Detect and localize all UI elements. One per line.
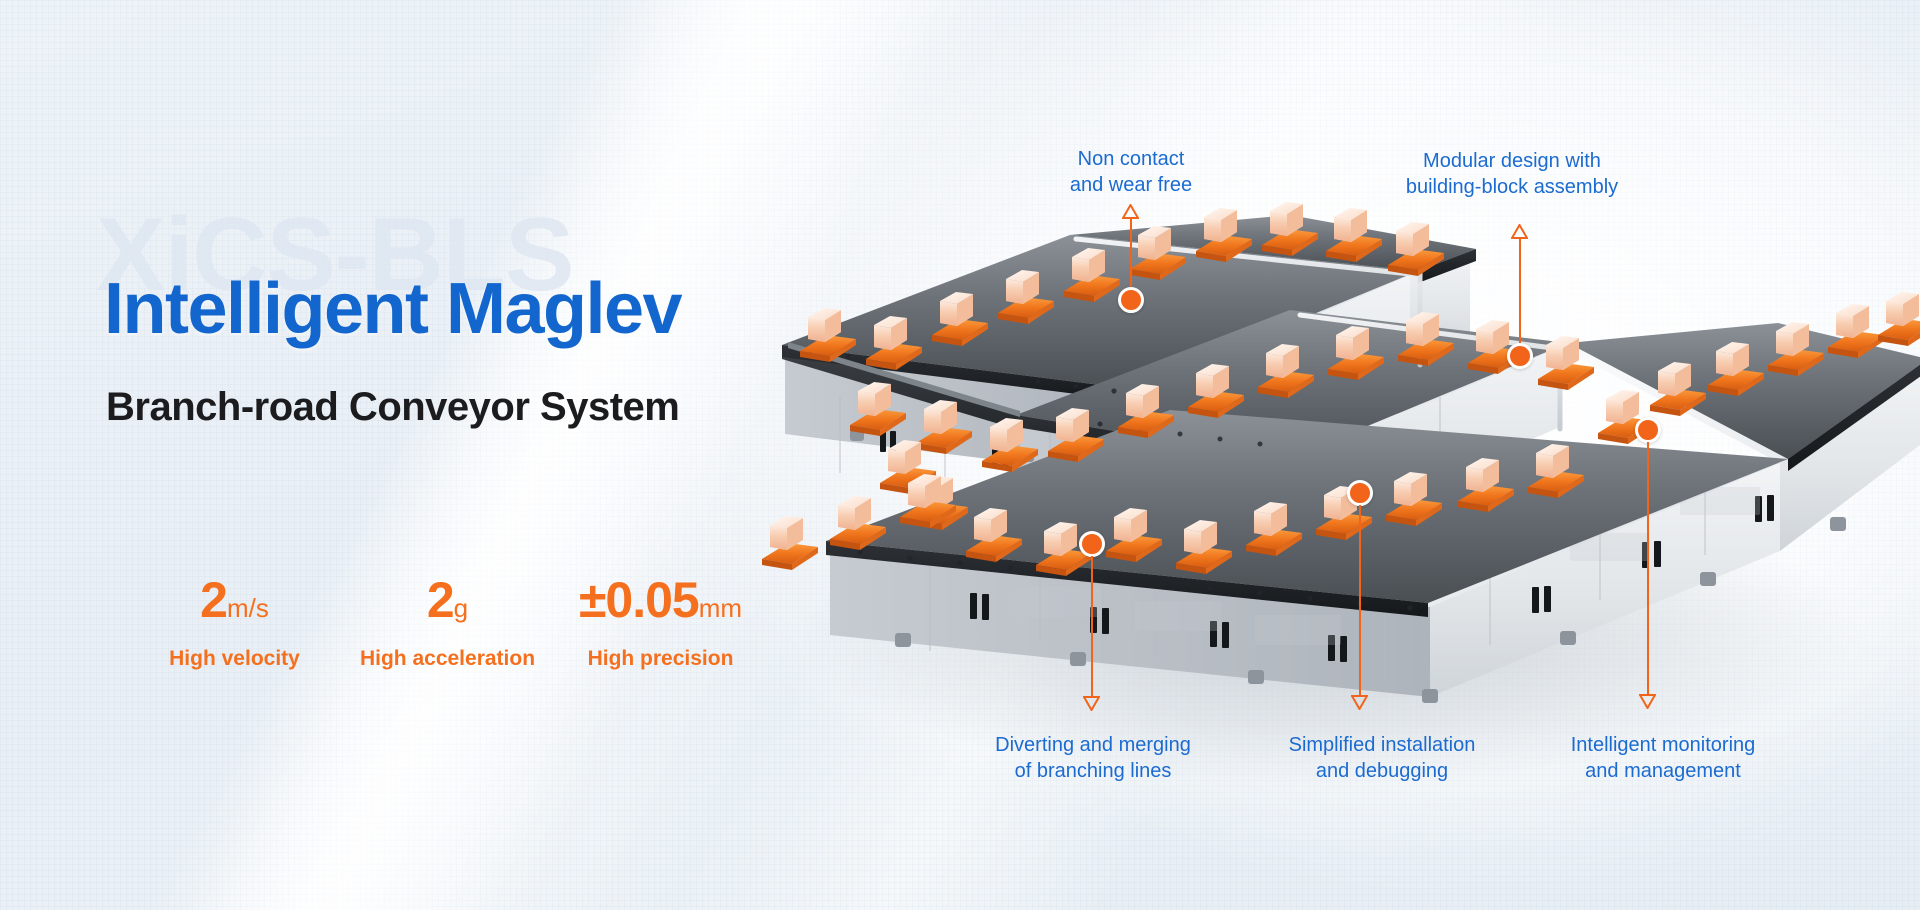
callout-line-2: and debugging — [1289, 758, 1476, 784]
callout-modular-design: Modular design with building-block assem… — [1406, 148, 1618, 201]
callout-line-2: of branching lines — [995, 758, 1191, 784]
stat-label: High precision — [554, 647, 767, 671]
callout-line-2: and wear free — [1070, 172, 1192, 198]
hotspot-dot-simplified-installation[interactable] — [1347, 480, 1373, 506]
arrow-up-icon-non-contact — [1122, 204, 1139, 219]
callout-non-contact: Non contact and wear free — [1070, 146, 1192, 199]
stat-high-acceleration: 2g High acceleration — [341, 575, 554, 671]
stat-value: ±0.05mm — [554, 575, 767, 625]
stats-row: 2m/s High velocity 2g High acceleration … — [128, 575, 767, 671]
leader-line-intelligent-monitoring — [1647, 442, 1649, 696]
callout-intelligent-monitoring: Intelligent monitoring and management — [1571, 732, 1756, 785]
hotspot-dot-modular-design[interactable] — [1507, 343, 1533, 369]
stat-value: 2m/s — [128, 575, 341, 625]
callout-line-1: Non contact — [1070, 146, 1192, 172]
stat-unit: g — [454, 593, 468, 623]
page-title: Intelligent Maglev — [104, 268, 681, 350]
maglev-conveyor-illustration — [770, 215, 1920, 745]
arrow-down-icon-intelligent-monitoring — [1639, 694, 1656, 709]
poster-canvas: XiCS-BLS Intelligent Maglev Branch-road … — [0, 0, 1920, 910]
leader-line-modular-design — [1519, 238, 1521, 354]
carrier — [1878, 292, 1920, 346]
stat-unit: mm — [699, 593, 742, 623]
callout-line-1: Simplified installation — [1289, 732, 1476, 758]
callout-line-1: Modular design with — [1406, 148, 1618, 174]
carrier — [762, 516, 818, 570]
callout-simplified-installation: Simplified installation and debugging — [1289, 732, 1476, 785]
stat-number: ±0.05 — [579, 572, 699, 628]
arrow-up-icon-modular-design — [1511, 224, 1528, 239]
leader-line-simplified-installation — [1359, 505, 1361, 697]
stat-number: 2 — [427, 572, 454, 628]
callout-line-1: Diverting and merging — [995, 732, 1191, 758]
stat-high-precision: ±0.05mm High precision — [554, 575, 767, 671]
stat-label: High velocity — [128, 647, 341, 671]
callout-line-2: building-block assembly — [1406, 174, 1618, 200]
callout-line-2: and management — [1571, 758, 1756, 784]
hotspot-dot-diverting-merging[interactable] — [1079, 531, 1105, 557]
leader-line-diverting-merging — [1091, 556, 1093, 698]
stat-value: 2g — [341, 575, 554, 625]
arrow-down-icon-simplified-installation — [1351, 695, 1368, 710]
hotspot-dot-intelligent-monitoring[interactable] — [1635, 417, 1661, 443]
stat-high-velocity: 2m/s High velocity — [128, 575, 341, 671]
page-subtitle: Branch-road Conveyor System — [106, 385, 679, 430]
callout-line-1: Intelligent monitoring — [1571, 732, 1756, 758]
arrow-down-icon-diverting-merging — [1083, 696, 1100, 711]
hotspot-dot-non-contact[interactable] — [1118, 287, 1144, 313]
stat-unit: m/s — [227, 593, 269, 623]
callout-diverting-merging: Diverting and merging of branching lines — [995, 732, 1191, 785]
stat-number: 2 — [200, 572, 227, 628]
stat-label: High acceleration — [341, 647, 554, 671]
